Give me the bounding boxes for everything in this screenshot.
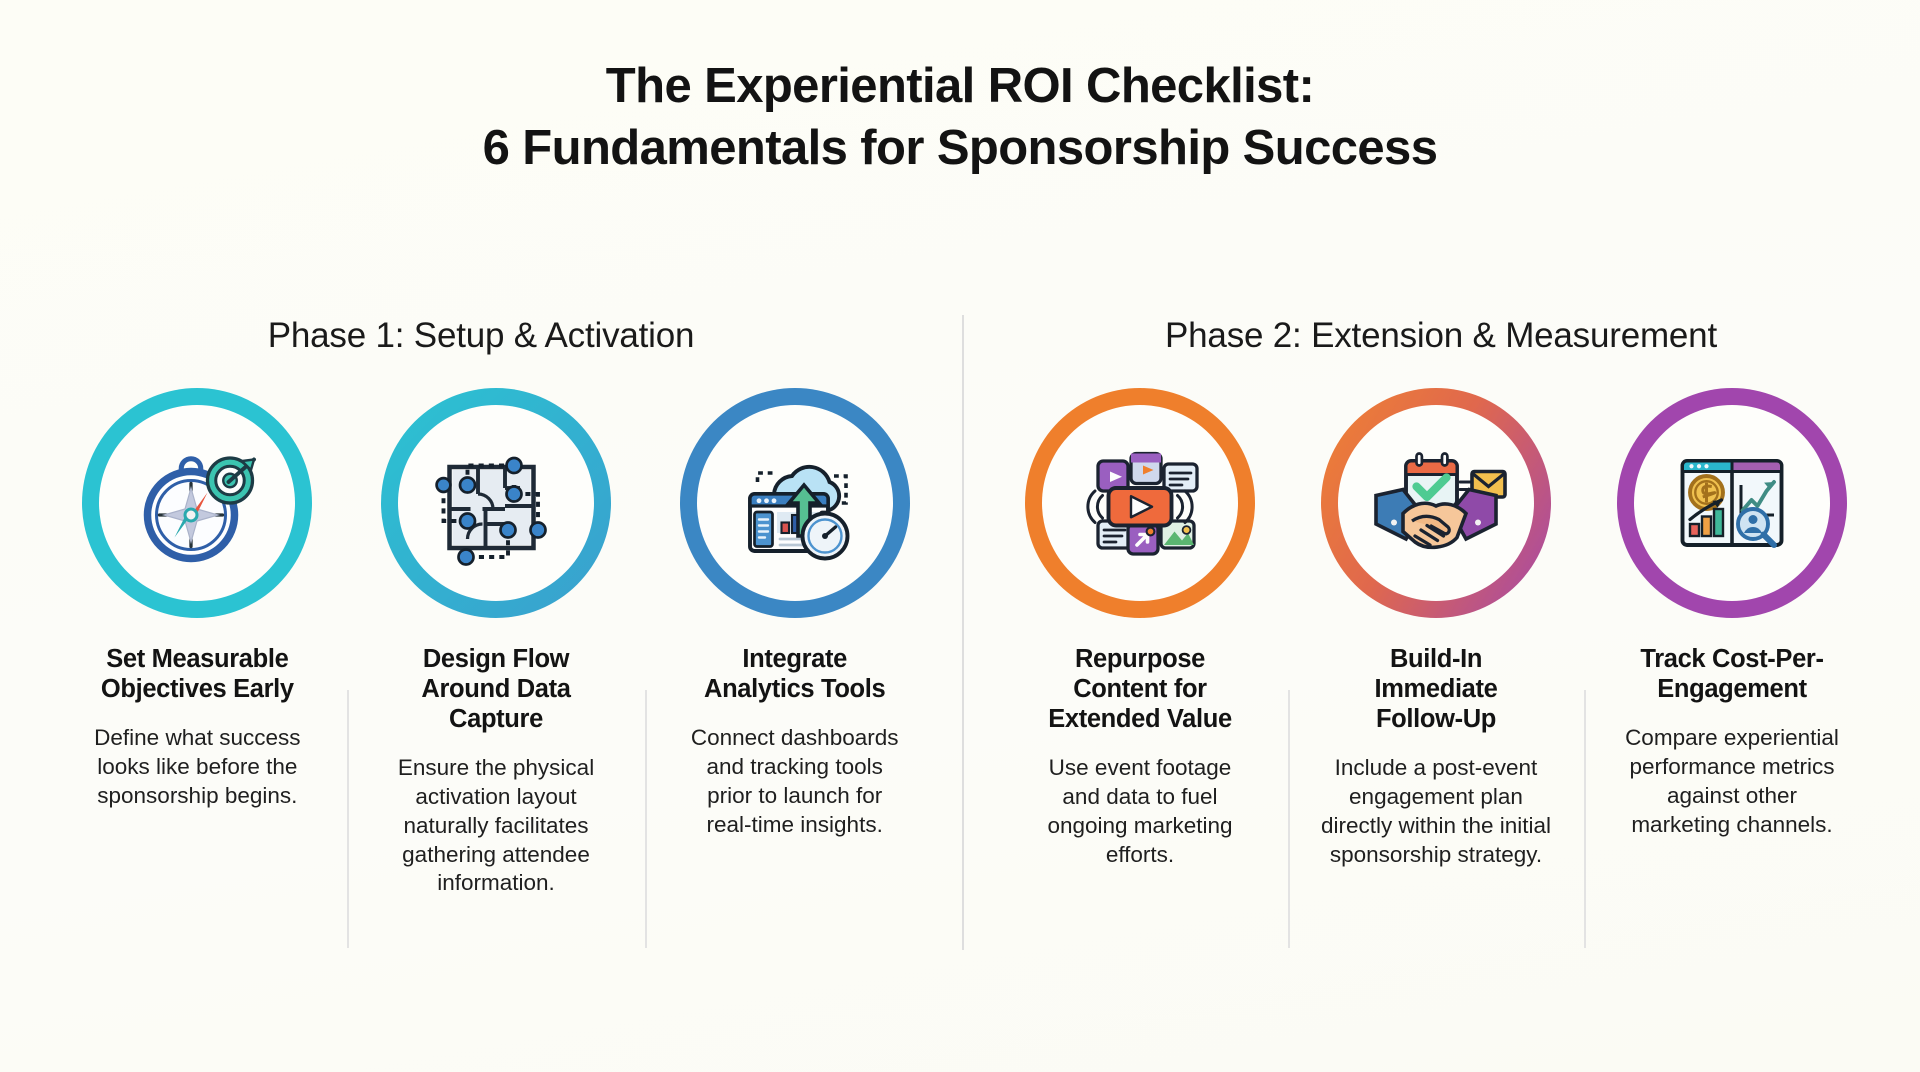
card-title: Track Cost-Per- Engagement xyxy=(1596,644,1868,704)
phase-headers: Phase 1: Setup & Activation Phase 2: Ext… xyxy=(0,316,1920,356)
cost-per-engagement-metrics-icon xyxy=(1657,428,1807,578)
icon-ring-6 xyxy=(1617,388,1847,618)
title-line-2: 6 Fundamentals for Sponsorship Success xyxy=(0,118,1920,180)
card-build-in-immediate-follow-up[interactable]: Build-In Immediate Follow-Up Include a p… xyxy=(1288,388,1584,898)
card-description: Connect dashboards and tracking tools pr… xyxy=(657,724,932,839)
card-title: Design Flow Around Data Capture xyxy=(359,644,634,734)
phase-header-1: Phase 1: Setup & Activation xyxy=(0,316,962,356)
card-title: Build-In Immediate Follow-Up xyxy=(1300,644,1572,734)
analytics-dashboard-cloud-stopwatch-icon xyxy=(720,428,870,578)
card-title: Set Measurable Objectives Early xyxy=(60,644,335,704)
phase-1-label: Phase 1: Setup & Activation xyxy=(0,316,962,356)
card-set-measurable-objectives[interactable]: Set Measurable Objectives Early Define w… xyxy=(48,388,347,898)
title-line-1: The Experiential ROI Checklist: xyxy=(0,56,1920,118)
phase-2-label: Phase 2: Extension & Measurement xyxy=(962,316,1920,356)
content-repurpose-play-icon xyxy=(1065,428,1215,578)
icon-ring-2 xyxy=(381,388,611,618)
page-title: The Experiential ROI Checklist: 6 Fundam… xyxy=(0,0,1920,179)
card-description: Compare experiential performance metrics… xyxy=(1596,724,1868,839)
floor-plan-data-points-icon xyxy=(421,428,571,578)
infographic-canvas: The Experiential ROI Checklist: 6 Fundam… xyxy=(0,0,1920,1072)
card-design-flow-data-capture[interactable]: Design Flow Around Data Capture Ensure t… xyxy=(347,388,646,898)
card-title: Repurpose Content for Extended Value xyxy=(1004,644,1276,734)
icon-ring-3 xyxy=(680,388,910,618)
card-track-cost-per-engagement[interactable]: Track Cost-Per- Engagement Compare exper… xyxy=(1584,388,1880,898)
phase-2-cards: Repurpose Content for Extended Value Use… xyxy=(962,388,1920,898)
card-repurpose-content[interactable]: Repurpose Content for Extended Value Use… xyxy=(992,388,1288,898)
card-description: Ensure the physical activation layout na… xyxy=(359,754,634,898)
card-title: Integrate Analytics Tools xyxy=(657,644,932,704)
card-description: Include a post-event engagement plan dir… xyxy=(1300,754,1572,869)
card-description: Use event footage and data to fuel ongoi… xyxy=(1004,754,1276,869)
card-groups: Set Measurable Objectives Early Define w… xyxy=(0,388,1920,898)
card-description: Define what success looks like before th… xyxy=(60,724,335,810)
compass-target-icon xyxy=(122,428,272,578)
card-integrate-analytics-tools[interactable]: Integrate Analytics Tools Connect dashbo… xyxy=(645,388,944,898)
phase-1-cards: Set Measurable Objectives Early Define w… xyxy=(0,388,962,898)
phase-header-2: Phase 2: Extension & Measurement xyxy=(962,316,1920,356)
icon-ring-5 xyxy=(1321,388,1551,618)
icon-ring-1 xyxy=(82,388,312,618)
icon-ring-4 xyxy=(1025,388,1255,618)
handshake-calendar-email-icon xyxy=(1361,428,1511,578)
